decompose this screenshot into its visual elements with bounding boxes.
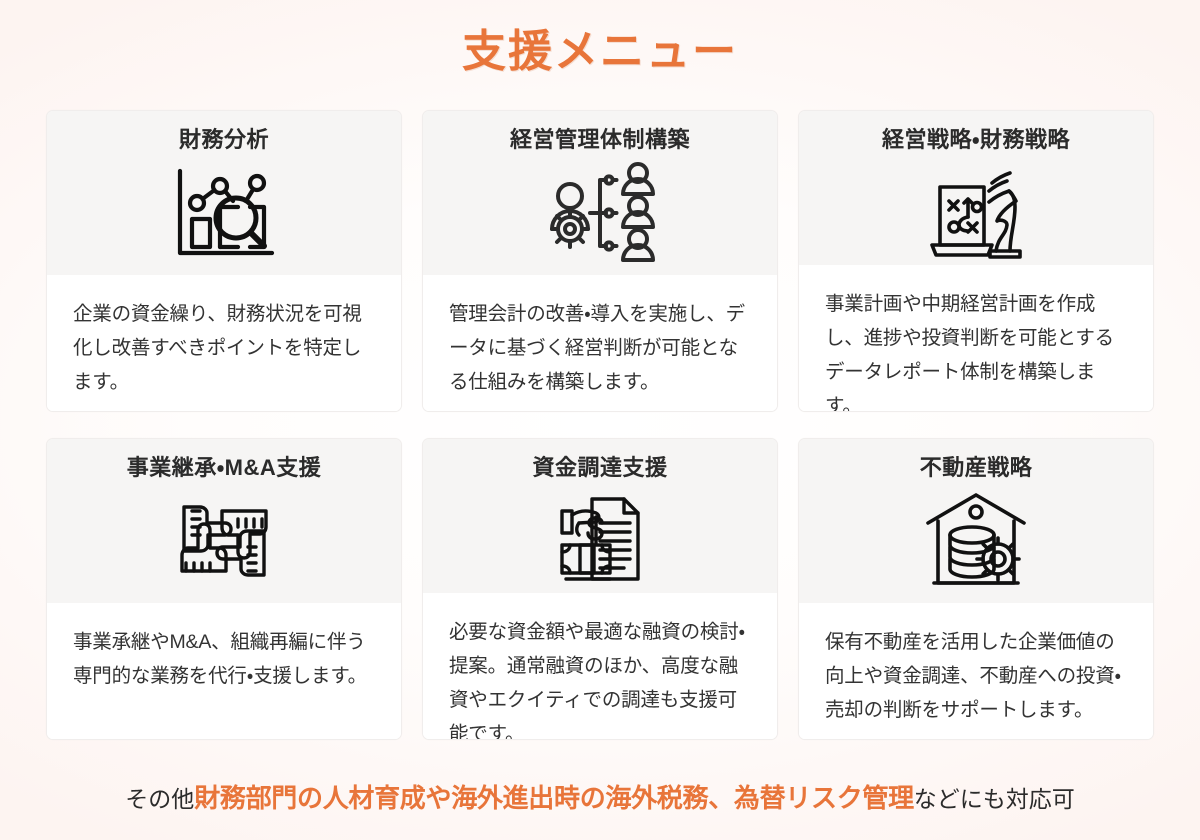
page-title: 支援メニュー [0,22,1200,82]
card-title: 事業継承・M&A支援 [127,453,322,483]
card-title: 不動産戦略 [920,453,1033,483]
card-header: 事業継承・M&A支援 [47,439,401,603]
org-chart-people-gear-icon [540,161,660,265]
card-header: 不動産戦略 [799,439,1153,603]
strategy-board-knight-icon [916,161,1036,265]
money-invoice-hand-icon [540,489,660,593]
service-card-real-estate[interactable]: 不動産戦略 [798,438,1154,740]
card-header: 経営管理体制構築 [423,111,777,275]
footer-suffix: などにも対応可 [914,786,1075,812]
card-header: 資金調達支援 [423,439,777,593]
card-header: 経営戦略・財務戦略 [799,111,1153,265]
house-coins-gear-icon [916,489,1036,593]
card-description: 事業計画や中期経営計画を作成し、進捗や投資判断を可能とするデータレポート体制を構… [825,287,1129,412]
card-title: 財務分析 [179,125,269,155]
card-description: 必要な資金額や最適な融資の検討・提案。通常融資のほか、高度な融資やエクイティでの… [449,615,753,740]
card-body: 必要な資金額や最適な融資の検討・提案。通常融資のほか、高度な融資やエクイティでの… [423,593,777,740]
service-card-grid: 財務分析 [46,110,1154,740]
card-body: 保有不動産を活用した企業価値の向上や資金調達、不動産への投資・売却の判断をサポー… [799,603,1153,739]
service-card-strategy[interactable]: 経営戦略・財務戦略 [798,110,1154,412]
service-card-succession-ma[interactable]: 事業継承・M&A支援 [46,438,402,740]
support-menu-page: 支援メニュー 財務分析 [0,0,1200,840]
card-title: 資金調達支援 [532,453,667,483]
card-body: 管理会計の改善・導入を実施し、データに基づく経営判断が可能となる仕組みを構築しま… [423,275,777,411]
four-hands-teamwork-icon [164,489,284,593]
card-body: 企業の資金繰り、財務状況を可視化し改善すべきポイントを特定します。 [47,275,401,411]
footer-note: その他財務部門の人材育成や海外進出時の海外税務、為替リスク管理などにも対応可 [0,778,1200,819]
footer-highlight: 財務部門の人材育成や海外進出時の海外税務、為替リスク管理 [194,783,914,813]
card-body: 事業計画や中期経営計画を作成し、進捗や投資判断を可能とするデータレポート体制を構… [799,265,1153,412]
card-body: 事業承継やM&A、組織再編に伴う専門的な業務を代行・支援します。 [47,603,401,739]
service-card-funding[interactable]: 資金調達支援 [422,438,778,740]
card-description: 企業の資金繰り、財務状況を可視化し改善すべきポイントを特定します。 [73,297,377,399]
bar-chart-magnifier-icon [164,161,284,265]
service-card-management-system[interactable]: 経営管理体制構築 [422,110,778,412]
card-title: 経営戦略・財務戦略 [882,125,1070,155]
footer-prefix: その他 [125,786,194,812]
service-card-financial-analysis[interactable]: 財務分析 [46,110,402,412]
card-description: 保有不動産を活用した企業価値の向上や資金調達、不動産への投資・売却の判断をサポー… [825,625,1129,727]
card-description: 事業承継やM&A、組織再編に伴う専門的な業務を代行・支援します。 [73,625,377,693]
card-title: 経営管理体制構築 [510,125,690,155]
card-header: 財務分析 [47,111,401,275]
card-description: 管理会計の改善・導入を実施し、データに基づく経営判断が可能となる仕組みを構築しま… [449,297,753,399]
